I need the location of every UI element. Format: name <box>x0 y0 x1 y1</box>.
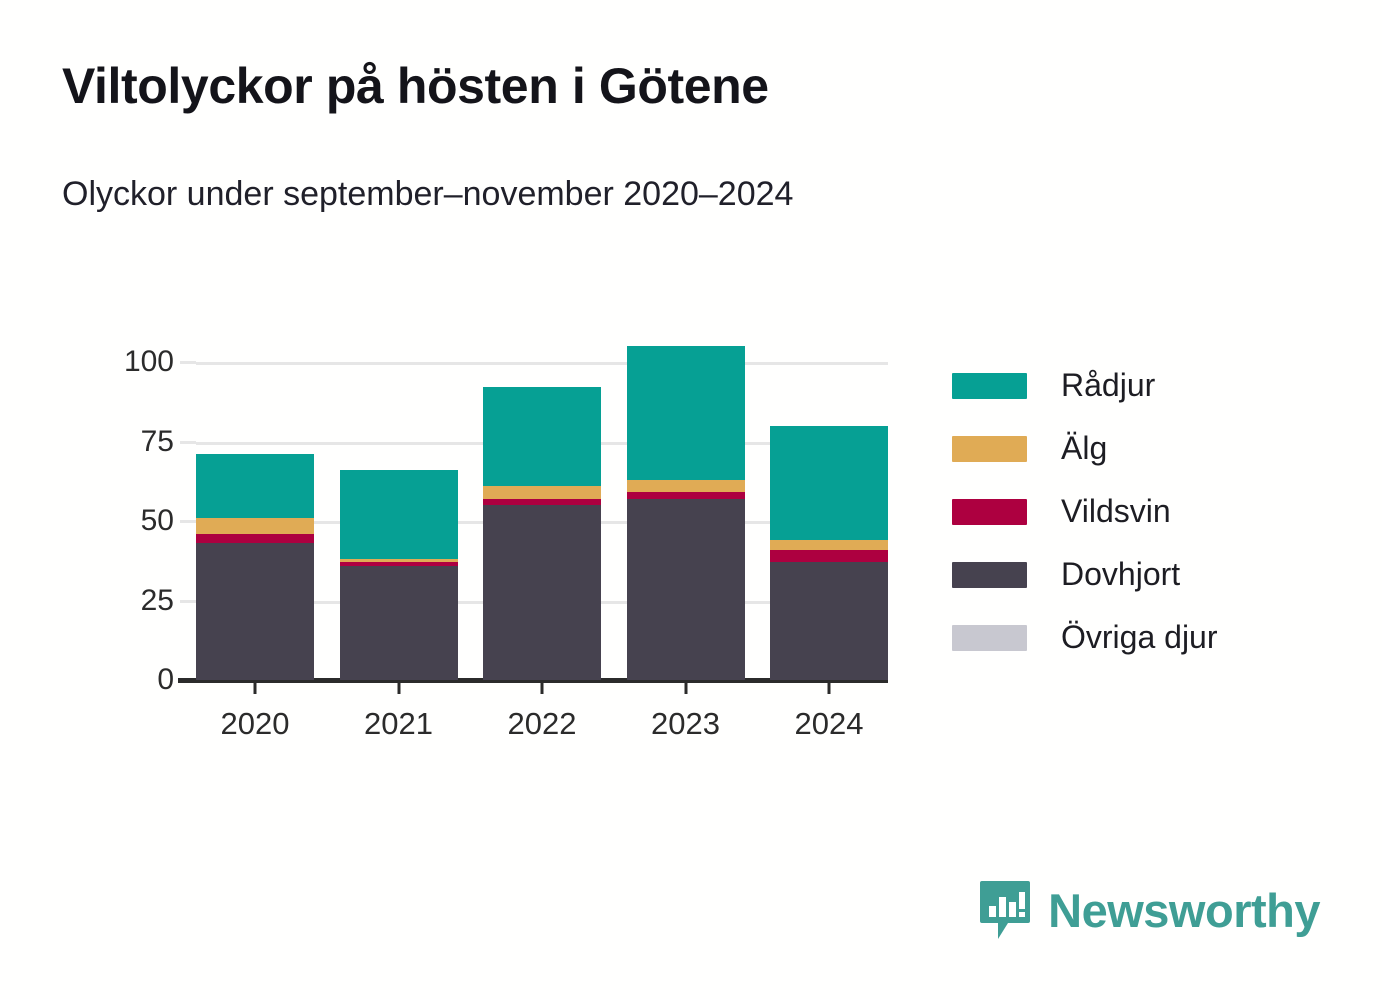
bar-segment-älg[interactable] <box>483 486 601 499</box>
y-axis-tick <box>180 520 196 523</box>
bar-segment-älg[interactable] <box>627 480 745 493</box>
bar-segment-vildsvin[interactable] <box>196 534 314 544</box>
bar-segment-rådjur[interactable] <box>627 346 745 480</box>
legend-item-älg[interactable]: Älg <box>952 417 1352 480</box>
y-axis-tick <box>180 361 196 364</box>
y-axis-tick <box>180 600 196 603</box>
bar-segment-älg[interactable] <box>196 518 314 534</box>
y-axis-tick-label: 50 <box>141 504 174 538</box>
bar-series-container: 20202021202220232024 <box>196 362 888 680</box>
y-axis-tick-label: 25 <box>141 584 174 618</box>
newsworthy-wordmark: Newsworthy <box>1048 887 1320 934</box>
y-axis-tick-label: 0 <box>157 663 174 697</box>
bar-group-2020[interactable]: 2020 <box>196 362 314 680</box>
stacked-bar[interactable] <box>483 387 601 680</box>
page-title: Viltolyckor på hösten i Götene <box>62 58 1322 114</box>
x-axis-tick <box>684 682 687 694</box>
newsworthy-logo: Newsworthy <box>978 879 1320 941</box>
bar-group-2021[interactable]: 2021 <box>340 362 458 680</box>
stacked-bar[interactable] <box>340 470 458 680</box>
legend-swatch-icon <box>952 562 1027 588</box>
chart-subtitle: Olyckor under september–november 2020–20… <box>62 114 1322 213</box>
legend-item-övriga-djur[interactable]: Övriga djur <box>952 606 1352 669</box>
stacked-bar[interactable] <box>770 426 888 680</box>
stacked-bar[interactable] <box>627 346 745 680</box>
legend-label: Dovhjort <box>1061 556 1180 593</box>
bar-segment-rådjur[interactable] <box>340 470 458 559</box>
bar-segment-dovhjort[interactable] <box>770 562 888 680</box>
legend-item-dovhjort[interactable]: Dovhjort <box>952 543 1352 606</box>
plot-region: 0255075100 20202021202220232024 <box>196 362 888 680</box>
legend-label: Älg <box>1061 430 1107 467</box>
bar-segment-rådjur[interactable] <box>196 454 314 518</box>
legend-label: Övriga djur <box>1061 619 1218 656</box>
legend-swatch-icon <box>952 436 1027 462</box>
bar-segment-vildsvin[interactable] <box>770 550 888 563</box>
legend-label: Rådjur <box>1061 367 1155 404</box>
legend-swatch-icon <box>952 499 1027 525</box>
x-axis-tick <box>828 682 831 694</box>
bar-segment-älg[interactable] <box>770 540 888 550</box>
chart-legend: RådjurÄlgVildsvinDovhjortÖvriga djur <box>952 354 1352 669</box>
chart-page: Viltolyckor på hösten i Götene Olyckor u… <box>0 0 1382 999</box>
x-axis-tick <box>397 682 400 694</box>
y-axis-tick-label: 100 <box>124 345 174 379</box>
legend-item-rådjur[interactable]: Rådjur <box>952 354 1352 417</box>
bar-segment-dovhjort[interactable] <box>483 505 601 680</box>
x-axis-tick-label: 2024 <box>795 706 864 742</box>
bar-group-2024[interactable]: 2024 <box>770 362 888 680</box>
x-axis-tick-label: 2023 <box>651 706 720 742</box>
chart-header: Viltolyckor på hösten i Götene Olyckor u… <box>62 58 1322 213</box>
y-axis-tick <box>180 441 196 444</box>
y-axis-tick-label: 75 <box>141 425 174 459</box>
bar-group-2023[interactable]: 2023 <box>627 362 745 680</box>
x-axis-tick-label: 2022 <box>508 706 577 742</box>
legend-swatch-icon <box>952 373 1027 399</box>
newsworthy-bar-chart-icon <box>978 879 1032 941</box>
bar-segment-dovhjort[interactable] <box>340 566 458 680</box>
bar-group-2022[interactable]: 2022 <box>483 362 601 680</box>
legend-swatch-icon <box>952 625 1027 651</box>
x-axis-tick-label: 2021 <box>364 706 433 742</box>
stacked-bar[interactable] <box>196 454 314 680</box>
bar-segment-rådjur[interactable] <box>483 387 601 486</box>
legend-item-vildsvin[interactable]: Vildsvin <box>952 480 1352 543</box>
bar-segment-dovhjort[interactable] <box>196 543 314 680</box>
bar-segment-rådjur[interactable] <box>770 426 888 540</box>
x-axis-tick <box>541 682 544 694</box>
x-axis-tick <box>254 682 257 694</box>
x-axis-tick-label: 2020 <box>221 706 290 742</box>
bar-segment-dovhjort[interactable] <box>627 499 745 680</box>
legend-label: Vildsvin <box>1061 493 1171 530</box>
